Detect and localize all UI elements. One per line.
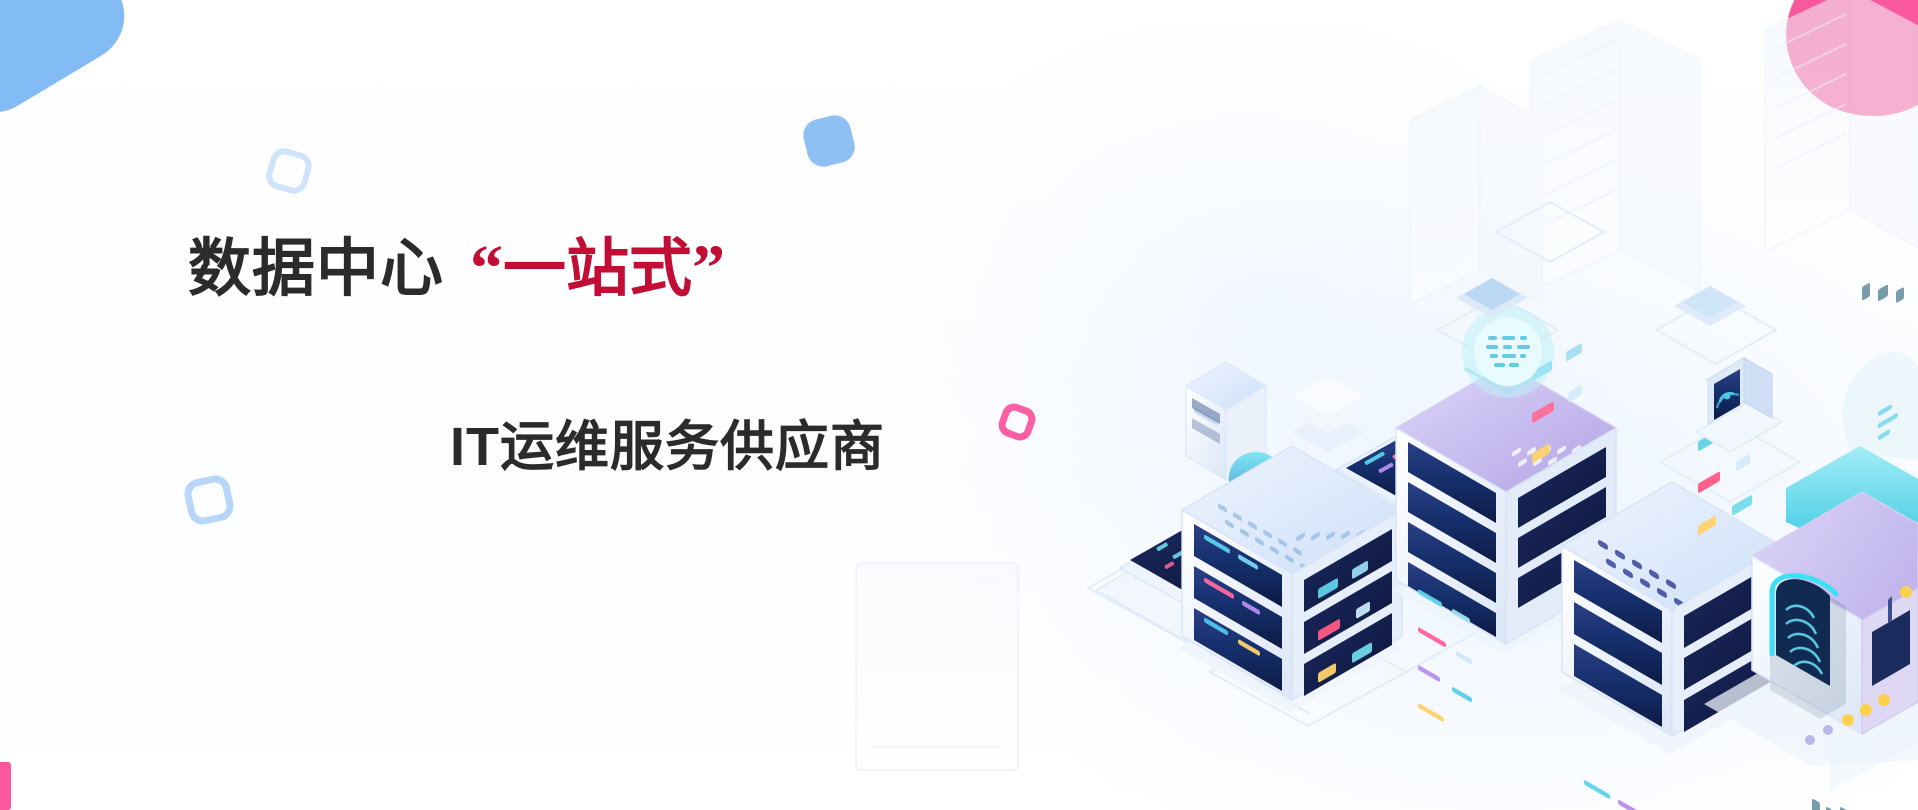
headline-accent-group: “一站式” [470,234,725,304]
headline-prefix: 数据中心 [188,234,444,304]
quote-open: “ [470,232,503,305]
headline-block: 数据中心“一站式” IT运维服务供应商 [188,232,1088,481]
isometric-data-center-illustration [1060,0,1918,810]
headline-accent: 一站式 [503,234,692,304]
page-title: 数据中心“一站式” [188,232,1088,306]
page-subtitle: IT运维服务供应商 [450,402,1088,481]
edge-bar-pink-icon [0,762,11,810]
quote-close: ” [692,232,725,305]
hero-banner: 数据中心“一站式” IT运维服务供应商 [0,0,1918,810]
faint-cube-outline-icon [855,562,1019,771]
